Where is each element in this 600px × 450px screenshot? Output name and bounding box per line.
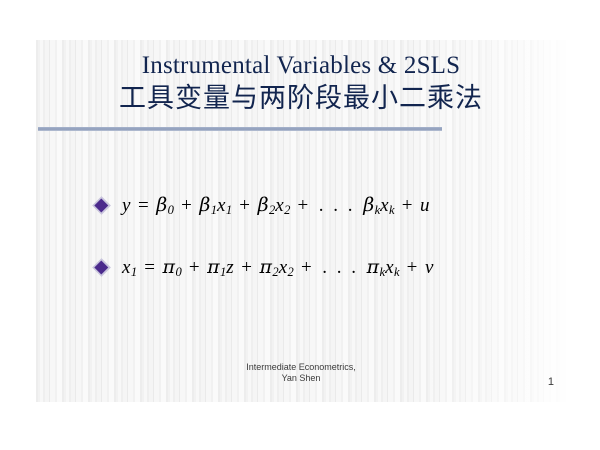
- equation-2-plus-d: +: [405, 257, 420, 278]
- equation-structural: y = β0 + β1x1 + β2x2 + . . . βkxk + u: [122, 194, 430, 217]
- equation-2-term4-symbol: π: [367, 256, 380, 278]
- equation-1-plus-d: +: [400, 195, 415, 216]
- equation-1-error-term: u: [420, 195, 430, 216]
- page-title-chinese: 工具变量与两阶段最小二乘法: [36, 82, 566, 115]
- equation-1-equals: =: [136, 195, 151, 216]
- equation-2-term3-varsub: 2: [288, 265, 294, 279]
- equation-2-term1-symbol: π: [163, 256, 176, 278]
- equation-1-term4-var: x: [380, 195, 389, 216]
- title-divider-rule: [38, 127, 442, 131]
- equation-1-term2-varsub: 1: [226, 203, 232, 217]
- equation-2-term4-varsub: k: [394, 265, 400, 279]
- diamond-bullet-icon: [92, 196, 111, 215]
- equation-2-term4-sub: k: [380, 265, 386, 279]
- equation-1-term2-var: x: [217, 195, 226, 216]
- equation-1-term3-symbol: β: [258, 194, 269, 216]
- equation-1-term4-symbol: β: [363, 194, 374, 216]
- equation-1-plus-a: +: [179, 195, 194, 216]
- equation-2-term2-symbol: π: [207, 256, 220, 278]
- equation-2-lhs-sub: 1: [131, 265, 137, 279]
- footer-author-name: Yan Shen: [36, 373, 566, 384]
- equation-1-term3-var: x: [275, 195, 284, 216]
- equation-2-term1-sub: 0: [175, 265, 181, 279]
- slide-title-block: Instrumental Variables & 2SLS 工具变量与两阶段最小…: [36, 50, 566, 115]
- equation-1-term2-symbol: β: [199, 194, 210, 216]
- equation-2-plus-a: +: [187, 257, 202, 278]
- equation-2-ellipsis: . . .: [319, 257, 361, 278]
- equation-2-term3-symbol: π: [260, 256, 273, 278]
- footer-credit: Intermediate Econometrics, Yan Shen: [36, 362, 566, 384]
- equation-2-term2-var: z: [226, 257, 234, 278]
- equation-2-term2-sub: 1: [220, 265, 226, 279]
- equation-2-plus-c: +: [299, 257, 314, 278]
- list-item: x1 = π0 + π1z + π2x2 + . . . πkxk + v: [92, 250, 532, 284]
- page-title-english: Instrumental Variables & 2SLS: [36, 50, 566, 82]
- equation-2-equals: =: [142, 257, 157, 278]
- equation-1-lhs: y: [122, 195, 131, 216]
- equation-list: y = β0 + β1x1 + β2x2 + . . . βkxk + u: [92, 188, 532, 312]
- equation-2-error-term: v: [425, 257, 434, 278]
- slide-canvas: Instrumental Variables & 2SLS 工具变量与两阶段最小…: [36, 40, 566, 402]
- diamond-bullet-icon: [92, 258, 111, 277]
- equation-1-term3-sub: 2: [269, 203, 275, 217]
- equation-1-term3-varsub: 2: [284, 203, 290, 217]
- equation-2-term3-var: x: [279, 257, 288, 278]
- equation-1-term4-sub: k: [375, 203, 381, 217]
- equation-2-term4-var: x: [385, 257, 394, 278]
- equation-1-term1-symbol: β: [156, 194, 167, 216]
- equation-first-stage: x1 = π0 + π1z + π2x2 + . . . πkxk + v: [122, 256, 434, 279]
- slide-content: Instrumental Variables & 2SLS 工具变量与两阶段最小…: [36, 40, 566, 402]
- page-number: 1: [548, 376, 554, 388]
- equation-1-term1-sub: 0: [168, 203, 174, 217]
- equation-1-term2-sub: 1: [211, 203, 217, 217]
- equation-2-plus-b: +: [239, 257, 254, 278]
- equation-2-lhs: x: [122, 257, 131, 278]
- list-item: y = β0 + β1x1 + β2x2 + . . . βkxk + u: [92, 188, 532, 222]
- equation-1-term4-varsub: k: [389, 203, 395, 217]
- footer-course-name: Intermediate Econometrics,: [36, 362, 566, 373]
- equation-1-plus-c: +: [296, 195, 311, 216]
- equation-1-plus-b: +: [237, 195, 252, 216]
- equation-2-term3-sub: 2: [272, 265, 278, 279]
- equation-1-ellipsis: . . .: [316, 195, 358, 216]
